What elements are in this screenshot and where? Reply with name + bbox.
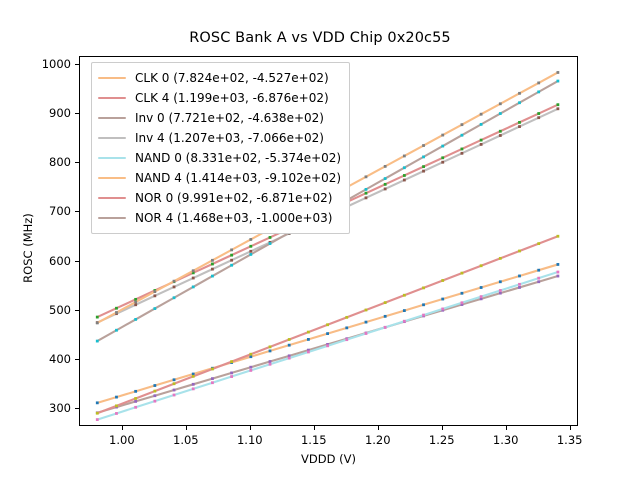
data-point-marker — [249, 353, 252, 356]
data-point-marker — [153, 290, 156, 293]
data-point-marker — [499, 134, 502, 137]
data-point-marker — [134, 390, 137, 393]
data-point-marker — [365, 332, 368, 335]
legend-label: NAND 4 (1.414e+03, -9.102e+02) — [135, 168, 341, 188]
legend-label: NAND 0 (8.331e+02, -5.374e+02) — [135, 148, 341, 168]
data-point-marker — [211, 368, 214, 371]
data-point-marker — [134, 400, 137, 403]
data-point-marker — [230, 372, 233, 375]
data-point-marker — [461, 123, 464, 126]
y-tick-mark — [75, 211, 79, 212]
data-point-marker — [365, 321, 368, 324]
data-point-marker — [480, 113, 483, 116]
data-point-marker — [326, 344, 329, 347]
y-tick-mark — [75, 113, 79, 114]
data-point-marker — [441, 145, 444, 148]
data-point-marker — [269, 360, 272, 363]
data-point-marker — [384, 326, 387, 329]
x-tick-label: 1.30 — [476, 433, 536, 447]
data-point-marker — [365, 309, 368, 312]
legend-color-swatch — [98, 217, 126, 219]
data-point-marker — [269, 345, 272, 348]
data-point-marker — [249, 369, 252, 372]
data-point-marker — [384, 301, 387, 304]
data-point-marker — [192, 375, 195, 378]
data-point-marker — [288, 338, 291, 341]
data-point-marker — [96, 316, 99, 319]
data-point-marker — [153, 400, 156, 403]
data-point-marker — [384, 188, 387, 191]
x-tick-mark — [378, 426, 379, 430]
data-point-marker — [461, 148, 464, 151]
legend-label: NOR 4 (1.468e+03, -1.000e+03) — [135, 208, 332, 228]
data-point-marker — [173, 286, 176, 289]
data-point-marker — [384, 177, 387, 180]
data-point-marker — [173, 389, 176, 392]
y-tick-label: 600 — [11, 254, 71, 268]
data-point-marker — [403, 166, 406, 169]
legend-item-inv-4[interactable]: Inv 4 (1.207e+03, -7.066e+02) — [98, 128, 341, 148]
data-point-marker — [211, 263, 214, 266]
data-point-marker — [173, 280, 176, 283]
data-point-marker — [422, 165, 425, 168]
data-point-marker — [134, 406, 137, 409]
data-point-marker — [192, 277, 195, 280]
data-point-marker — [499, 130, 502, 133]
data-point-marker — [422, 170, 425, 173]
data-point-marker — [211, 381, 214, 384]
data-point-marker — [461, 301, 464, 304]
legend-color-swatch — [98, 77, 126, 79]
data-point-marker — [211, 259, 214, 262]
data-point-marker — [211, 377, 214, 380]
data-point-marker — [173, 382, 176, 385]
legend-label: CLK 4 (1.199e+03, -6.876e+02) — [135, 88, 329, 108]
data-point-marker — [537, 112, 540, 115]
data-point-marker — [556, 103, 559, 106]
data-point-marker — [96, 322, 99, 325]
data-point-marker — [403, 294, 406, 297]
data-point-marker — [384, 183, 387, 186]
legend-item-nand-0[interactable]: NAND 0 (8.331e+02, -5.374e+02) — [98, 148, 341, 168]
data-point-marker — [537, 280, 540, 283]
legend-item-nor-0[interactable]: NOR 0 (9.991e+02, -6.871e+02) — [98, 188, 341, 208]
data-point-marker — [499, 289, 502, 292]
data-point-marker — [173, 394, 176, 397]
data-point-marker — [269, 363, 272, 366]
data-point-marker — [307, 338, 310, 341]
data-point-marker — [480, 143, 483, 146]
data-point-marker — [153, 307, 156, 310]
data-point-marker — [441, 308, 444, 311]
legend-label: CLK 0 (7.824e+02, -4.527e+02) — [135, 68, 329, 88]
data-point-marker — [365, 188, 368, 191]
data-point-marker — [115, 307, 118, 310]
data-point-marker — [249, 238, 252, 241]
data-point-marker — [422, 314, 425, 317]
data-point-marker — [556, 275, 559, 278]
data-point-marker — [518, 275, 521, 278]
data-point-marker — [518, 101, 521, 104]
data-point-marker — [422, 155, 425, 158]
matplotlib-figure: ROSC Bank A vs VDD Chip 0x20c55 30040050… — [0, 0, 640, 480]
data-point-marker — [249, 253, 252, 256]
y-tick-mark — [75, 408, 79, 409]
data-point-marker — [384, 165, 387, 168]
data-point-marker — [556, 80, 559, 83]
data-point-marker — [556, 263, 559, 266]
data-point-marker — [461, 292, 464, 295]
x-tick-label: 1.25 — [412, 433, 472, 447]
data-point-marker — [403, 320, 406, 323]
data-point-marker — [230, 248, 233, 251]
data-point-marker — [192, 387, 195, 390]
legend-color-swatch — [98, 197, 126, 199]
data-point-marker — [441, 156, 444, 159]
data-point-marker — [461, 272, 464, 275]
data-point-marker — [96, 401, 99, 404]
data-point-marker — [249, 245, 252, 248]
data-point-marker — [365, 196, 368, 199]
data-point-marker — [249, 366, 252, 369]
x-tick-label: 1.20 — [348, 433, 408, 447]
y-tick-label: 300 — [11, 401, 71, 415]
legend-label: Inv 4 (1.207e+03, -7.066e+02) — [135, 128, 324, 148]
data-point-marker — [499, 112, 502, 115]
data-point-marker — [288, 344, 291, 347]
data-point-marker — [269, 350, 272, 353]
data-point-marker — [461, 152, 464, 155]
data-point-marker — [153, 390, 156, 393]
y-tick-label: 400 — [11, 352, 71, 366]
data-point-marker — [422, 144, 425, 147]
data-point-marker — [173, 296, 176, 299]
data-point-marker — [211, 275, 214, 278]
data-point-marker — [499, 102, 502, 105]
data-point-marker — [326, 323, 329, 326]
x-tick-mark — [570, 426, 571, 430]
data-point-marker — [96, 340, 99, 343]
x-tick-mark — [506, 426, 507, 430]
data-point-marker — [480, 286, 483, 289]
data-point-marker — [499, 257, 502, 260]
legend-item-nand-4[interactable]: NAND 4 (1.414e+03, -9.102e+02) — [98, 168, 341, 188]
data-point-marker — [115, 412, 118, 415]
data-point-marker — [441, 298, 444, 301]
data-point-marker — [537, 90, 540, 93]
x-tick-mark — [314, 426, 315, 430]
x-tick-label: 1.05 — [156, 433, 216, 447]
data-point-marker — [115, 311, 118, 314]
data-point-marker — [365, 175, 368, 178]
data-point-marker — [134, 318, 137, 321]
data-point-marker — [345, 338, 348, 341]
x-tick-mark — [250, 426, 251, 430]
legend-label: Inv 0 (7.721e+02, -4.638e+02) — [135, 108, 324, 128]
y-tick-mark — [75, 261, 79, 262]
data-point-marker — [134, 397, 137, 400]
data-point-marker — [192, 383, 195, 386]
data-point-marker — [461, 134, 464, 137]
data-point-marker — [480, 139, 483, 142]
data-point-marker — [269, 242, 272, 245]
data-point-marker — [96, 418, 99, 421]
legend-color-swatch — [98, 117, 126, 119]
data-point-marker — [365, 192, 368, 195]
data-point-marker — [556, 235, 559, 238]
data-point-marker — [307, 331, 310, 334]
data-point-marker — [345, 326, 348, 329]
data-point-marker — [269, 236, 272, 239]
x-tick-mark — [122, 426, 123, 430]
data-point-marker — [422, 286, 425, 289]
data-point-marker — [230, 259, 233, 262]
data-point-marker — [153, 394, 156, 397]
data-point-marker — [230, 264, 233, 267]
data-point-marker — [173, 378, 176, 381]
data-point-marker — [307, 351, 310, 354]
data-point-marker — [192, 286, 195, 289]
data-point-marker — [403, 179, 406, 182]
data-point-marker — [537, 277, 540, 280]
data-point-marker — [115, 404, 118, 407]
data-point-marker — [441, 279, 444, 282]
y-tick-label: 500 — [11, 303, 71, 317]
data-point-marker — [518, 92, 521, 95]
data-point-marker — [441, 134, 444, 137]
data-point-marker — [518, 286, 521, 289]
data-point-marker — [403, 155, 406, 158]
data-point-marker — [518, 250, 521, 253]
data-point-marker — [537, 242, 540, 245]
legend-color-swatch — [98, 137, 126, 139]
y-tick-mark — [75, 162, 79, 163]
data-point-marker — [480, 295, 483, 298]
data-point-marker — [499, 292, 502, 295]
data-point-marker — [230, 375, 233, 378]
data-point-marker — [537, 116, 540, 119]
data-point-marker — [211, 268, 214, 271]
data-point-marker — [345, 316, 348, 319]
page-title: ROSC Bank A vs VDD Chip 0x20c55 — [0, 30, 640, 46]
y-axis-label: ROSC (MHz) — [21, 168, 35, 328]
y-tick-label: 800 — [11, 155, 71, 169]
x-tick-mark — [186, 426, 187, 430]
legend-item-clk-4[interactable]: CLK 4 (1.199e+03, -6.876e+02) — [98, 88, 341, 108]
data-point-marker — [480, 264, 483, 267]
data-point-marker — [153, 384, 156, 387]
data-point-marker — [115, 396, 118, 399]
x-axis-label: VDDD (V) — [79, 452, 578, 466]
data-point-marker — [230, 360, 233, 363]
legend-item-inv-0[interactable]: Inv 0 (7.721e+02, -4.638e+02) — [98, 108, 341, 128]
legend-color-swatch — [98, 97, 126, 99]
data-point-marker — [499, 280, 502, 283]
legend: CLK 0 (7.824e+02, -4.527e+02)CLK 4 (1.19… — [91, 62, 350, 234]
y-tick-mark — [75, 310, 79, 311]
data-point-marker — [403, 309, 406, 312]
data-point-marker — [422, 303, 425, 306]
x-tick-mark — [442, 426, 443, 430]
y-tick-label: 700 — [11, 204, 71, 218]
legend-item-clk-0[interactable]: CLK 0 (7.824e+02, -4.527e+02) — [98, 68, 341, 88]
data-point-marker — [441, 161, 444, 164]
data-point-marker — [518, 283, 521, 286]
data-point-marker — [326, 332, 329, 335]
y-tick-label: 900 — [11, 106, 71, 120]
data-point-marker — [556, 71, 559, 74]
x-tick-label: 1.10 — [220, 433, 280, 447]
data-point-marker — [518, 125, 521, 128]
x-tick-label: 1.00 — [92, 433, 152, 447]
data-point-marker — [249, 250, 252, 253]
data-point-marker — [134, 301, 137, 304]
data-point-marker — [537, 82, 540, 85]
data-point-marker — [556, 271, 559, 274]
legend-color-swatch — [98, 177, 126, 179]
data-point-marker — [518, 121, 521, 124]
data-point-marker — [96, 412, 99, 415]
legend-item-nor-4[interactable]: NOR 4 (1.468e+03, -1.000e+03) — [98, 208, 341, 228]
data-point-marker — [480, 123, 483, 126]
data-point-marker — [403, 174, 406, 177]
data-point-marker — [556, 107, 559, 110]
data-point-marker — [384, 315, 387, 318]
y-tick-mark — [75, 64, 79, 65]
y-tick-mark — [75, 359, 79, 360]
data-point-marker — [192, 269, 195, 272]
legend-color-swatch — [98, 157, 126, 159]
data-point-marker — [230, 254, 233, 257]
data-point-marker — [288, 357, 291, 360]
x-tick-label: 1.15 — [284, 433, 344, 447]
data-point-marker — [153, 294, 156, 297]
data-point-marker — [537, 269, 540, 272]
y-tick-label: 1000 — [11, 57, 71, 71]
data-point-marker — [115, 329, 118, 332]
legend-label: NOR 0 (9.991e+02, -6.871e+02) — [135, 188, 332, 208]
x-tick-label: 1.35 — [540, 433, 600, 447]
